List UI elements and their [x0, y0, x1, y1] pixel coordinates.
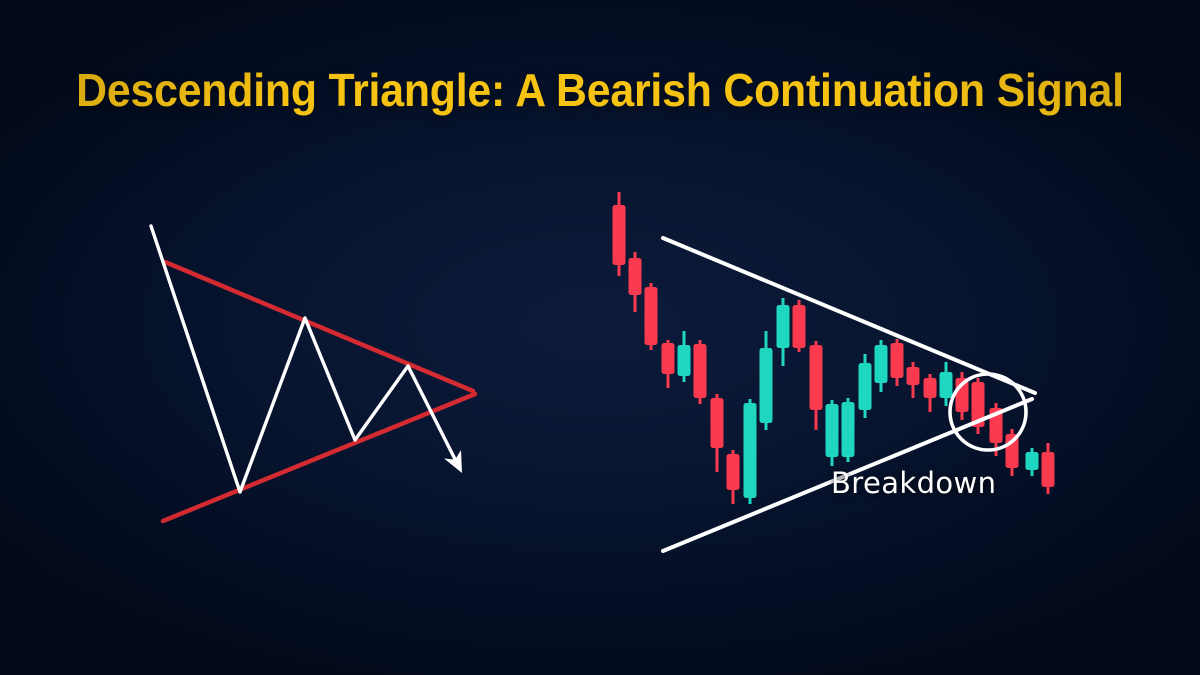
- candle-body: [1026, 452, 1039, 470]
- candle-body: [744, 403, 757, 498]
- candle-body: [645, 287, 658, 345]
- candle-body: [826, 404, 839, 457]
- candle: [842, 398, 855, 462]
- candle-body: [777, 305, 790, 348]
- candle-body: [727, 454, 740, 490]
- breakdown-label: Breakdown: [831, 466, 996, 500]
- candle: [678, 331, 691, 382]
- candle: [826, 400, 839, 466]
- candle: [907, 362, 920, 398]
- candle-body: [940, 372, 953, 398]
- candle: [645, 283, 658, 350]
- candle-body: [629, 258, 642, 295]
- candle: [727, 450, 740, 504]
- candle: [711, 394, 724, 472]
- candle: [662, 340, 675, 388]
- candle-body: [859, 363, 872, 410]
- candle: [875, 340, 888, 392]
- candle: [924, 374, 937, 412]
- candle-body: [711, 398, 724, 448]
- candle: [1026, 448, 1039, 476]
- candle-body: [662, 343, 675, 374]
- candle-body: [875, 345, 888, 383]
- infographic-canvas: Descending Triangle: A Bearish Continuat…: [0, 0, 1200, 675]
- candle: [777, 298, 790, 366]
- candle: [859, 354, 872, 418]
- candlestick-chart: [0, 0, 1200, 675]
- candle-body: [907, 367, 920, 385]
- chart-trendline-upper: [663, 238, 1035, 393]
- candle: [694, 340, 707, 404]
- candle-body: [613, 205, 626, 265]
- candle-body: [793, 305, 806, 348]
- candle-body: [1042, 452, 1055, 487]
- candle: [760, 331, 773, 430]
- candle-body: [842, 402, 855, 457]
- candle-body: [891, 343, 904, 378]
- candle-body: [678, 345, 691, 376]
- candle: [810, 341, 823, 430]
- candle-body: [924, 378, 937, 398]
- candle-body: [810, 345, 823, 410]
- candle: [793, 300, 806, 352]
- candle: [972, 378, 985, 434]
- candle: [613, 192, 626, 276]
- candle: [629, 252, 642, 312]
- candle-body: [760, 348, 773, 423]
- candle: [744, 399, 757, 504]
- candle: [891, 339, 904, 386]
- candle: [1042, 443, 1055, 494]
- candle-body: [694, 344, 707, 398]
